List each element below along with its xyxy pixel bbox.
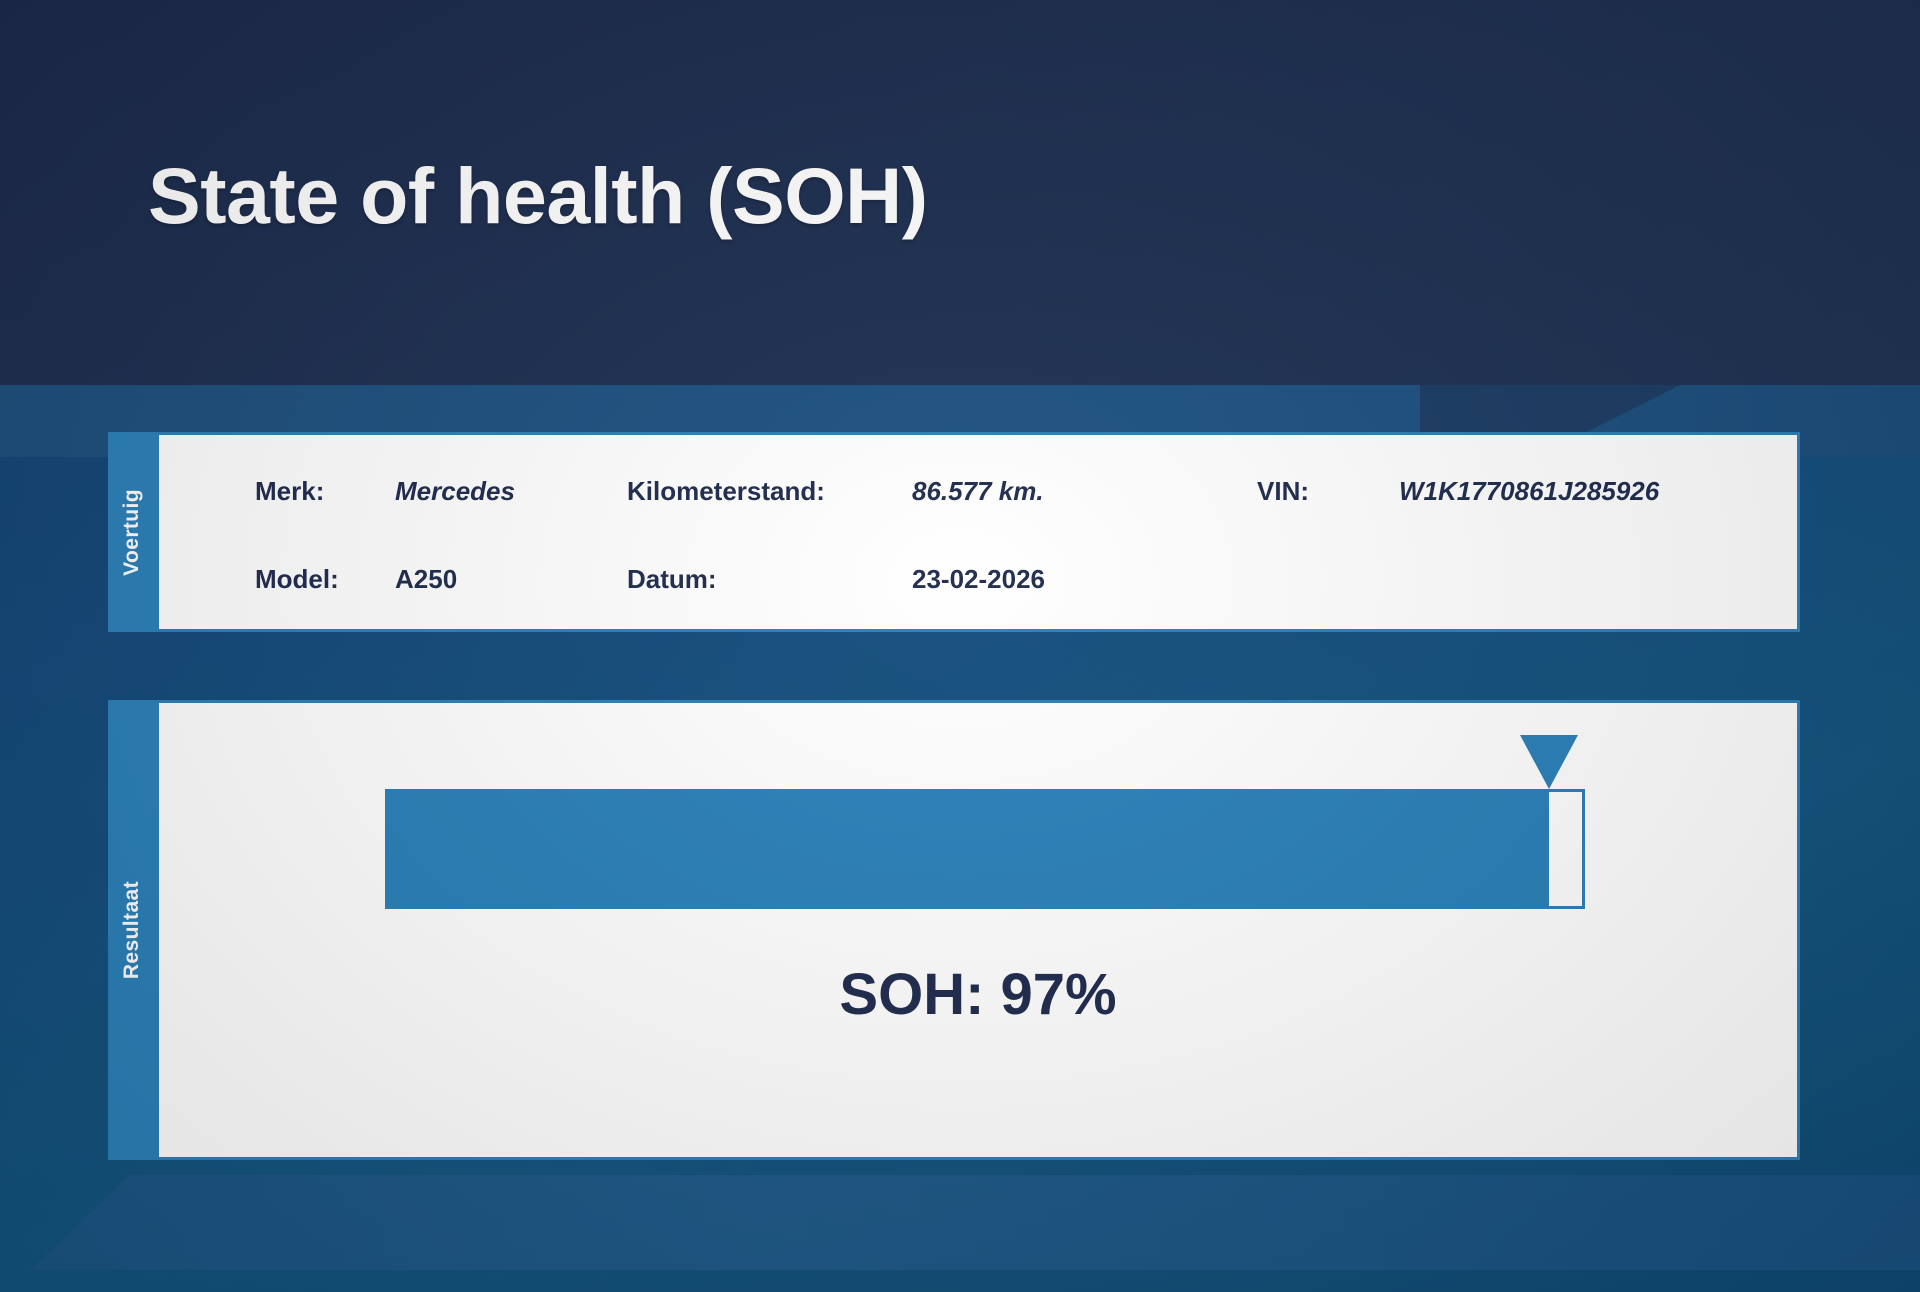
- vehicle-tab[interactable]: Voertuig: [108, 432, 156, 632]
- soh-gauge: [385, 789, 1585, 909]
- soh-gauge-container: SOH: 97%: [159, 703, 1797, 1157]
- merk-value: Mercedes: [395, 476, 627, 507]
- header-banner: State of health (SOH): [0, 0, 1920, 385]
- vehicle-info-card: Voertuig Merk: Mercedes Kilometerstand: …: [108, 432, 1800, 632]
- vehicle-row-2: Model: A250 Datum: 23-02-2026: [255, 557, 1797, 601]
- soh-marker-triangle-icon: [1520, 735, 1578, 789]
- model-label: Model:: [255, 564, 395, 595]
- kilometerstand-value: 86.577 km.: [912, 476, 1257, 507]
- vin-label: VIN:: [1257, 476, 1399, 507]
- kilometerstand-label: Kilometerstand:: [627, 476, 912, 507]
- merk-label: Merk:: [255, 476, 395, 507]
- background-diagonal-bottom: [0, 1175, 1920, 1270]
- soh-gauge-fill: [385, 789, 1549, 909]
- slide-root: State of health (SOH) Voertuig Merk: Mer…: [0, 0, 1920, 1292]
- soh-value-caption: SOH: 97%: [159, 961, 1797, 1028]
- vehicle-card-body: Merk: Mercedes Kilometerstand: 86.577 km…: [156, 432, 1800, 632]
- datum-label: Datum:: [627, 564, 912, 595]
- vin-value: W1K1770861J285926: [1399, 476, 1659, 507]
- vehicle-tab-label: Voertuig: [120, 489, 144, 576]
- page-title: State of health (SOH): [148, 150, 928, 242]
- result-tab-label: Resultaat: [120, 881, 144, 979]
- vehicle-details-grid: Merk: Mercedes Kilometerstand: 86.577 km…: [159, 435, 1797, 629]
- datum-value: 23-02-2026: [912, 564, 1257, 595]
- result-card-body: SOH: 97%: [156, 700, 1800, 1160]
- vehicle-row-1: Merk: Mercedes Kilometerstand: 86.577 km…: [255, 469, 1797, 513]
- result-tab[interactable]: Resultaat: [108, 700, 156, 1160]
- model-value: A250: [395, 564, 627, 595]
- result-card: Resultaat SOH: 97%: [108, 700, 1800, 1160]
